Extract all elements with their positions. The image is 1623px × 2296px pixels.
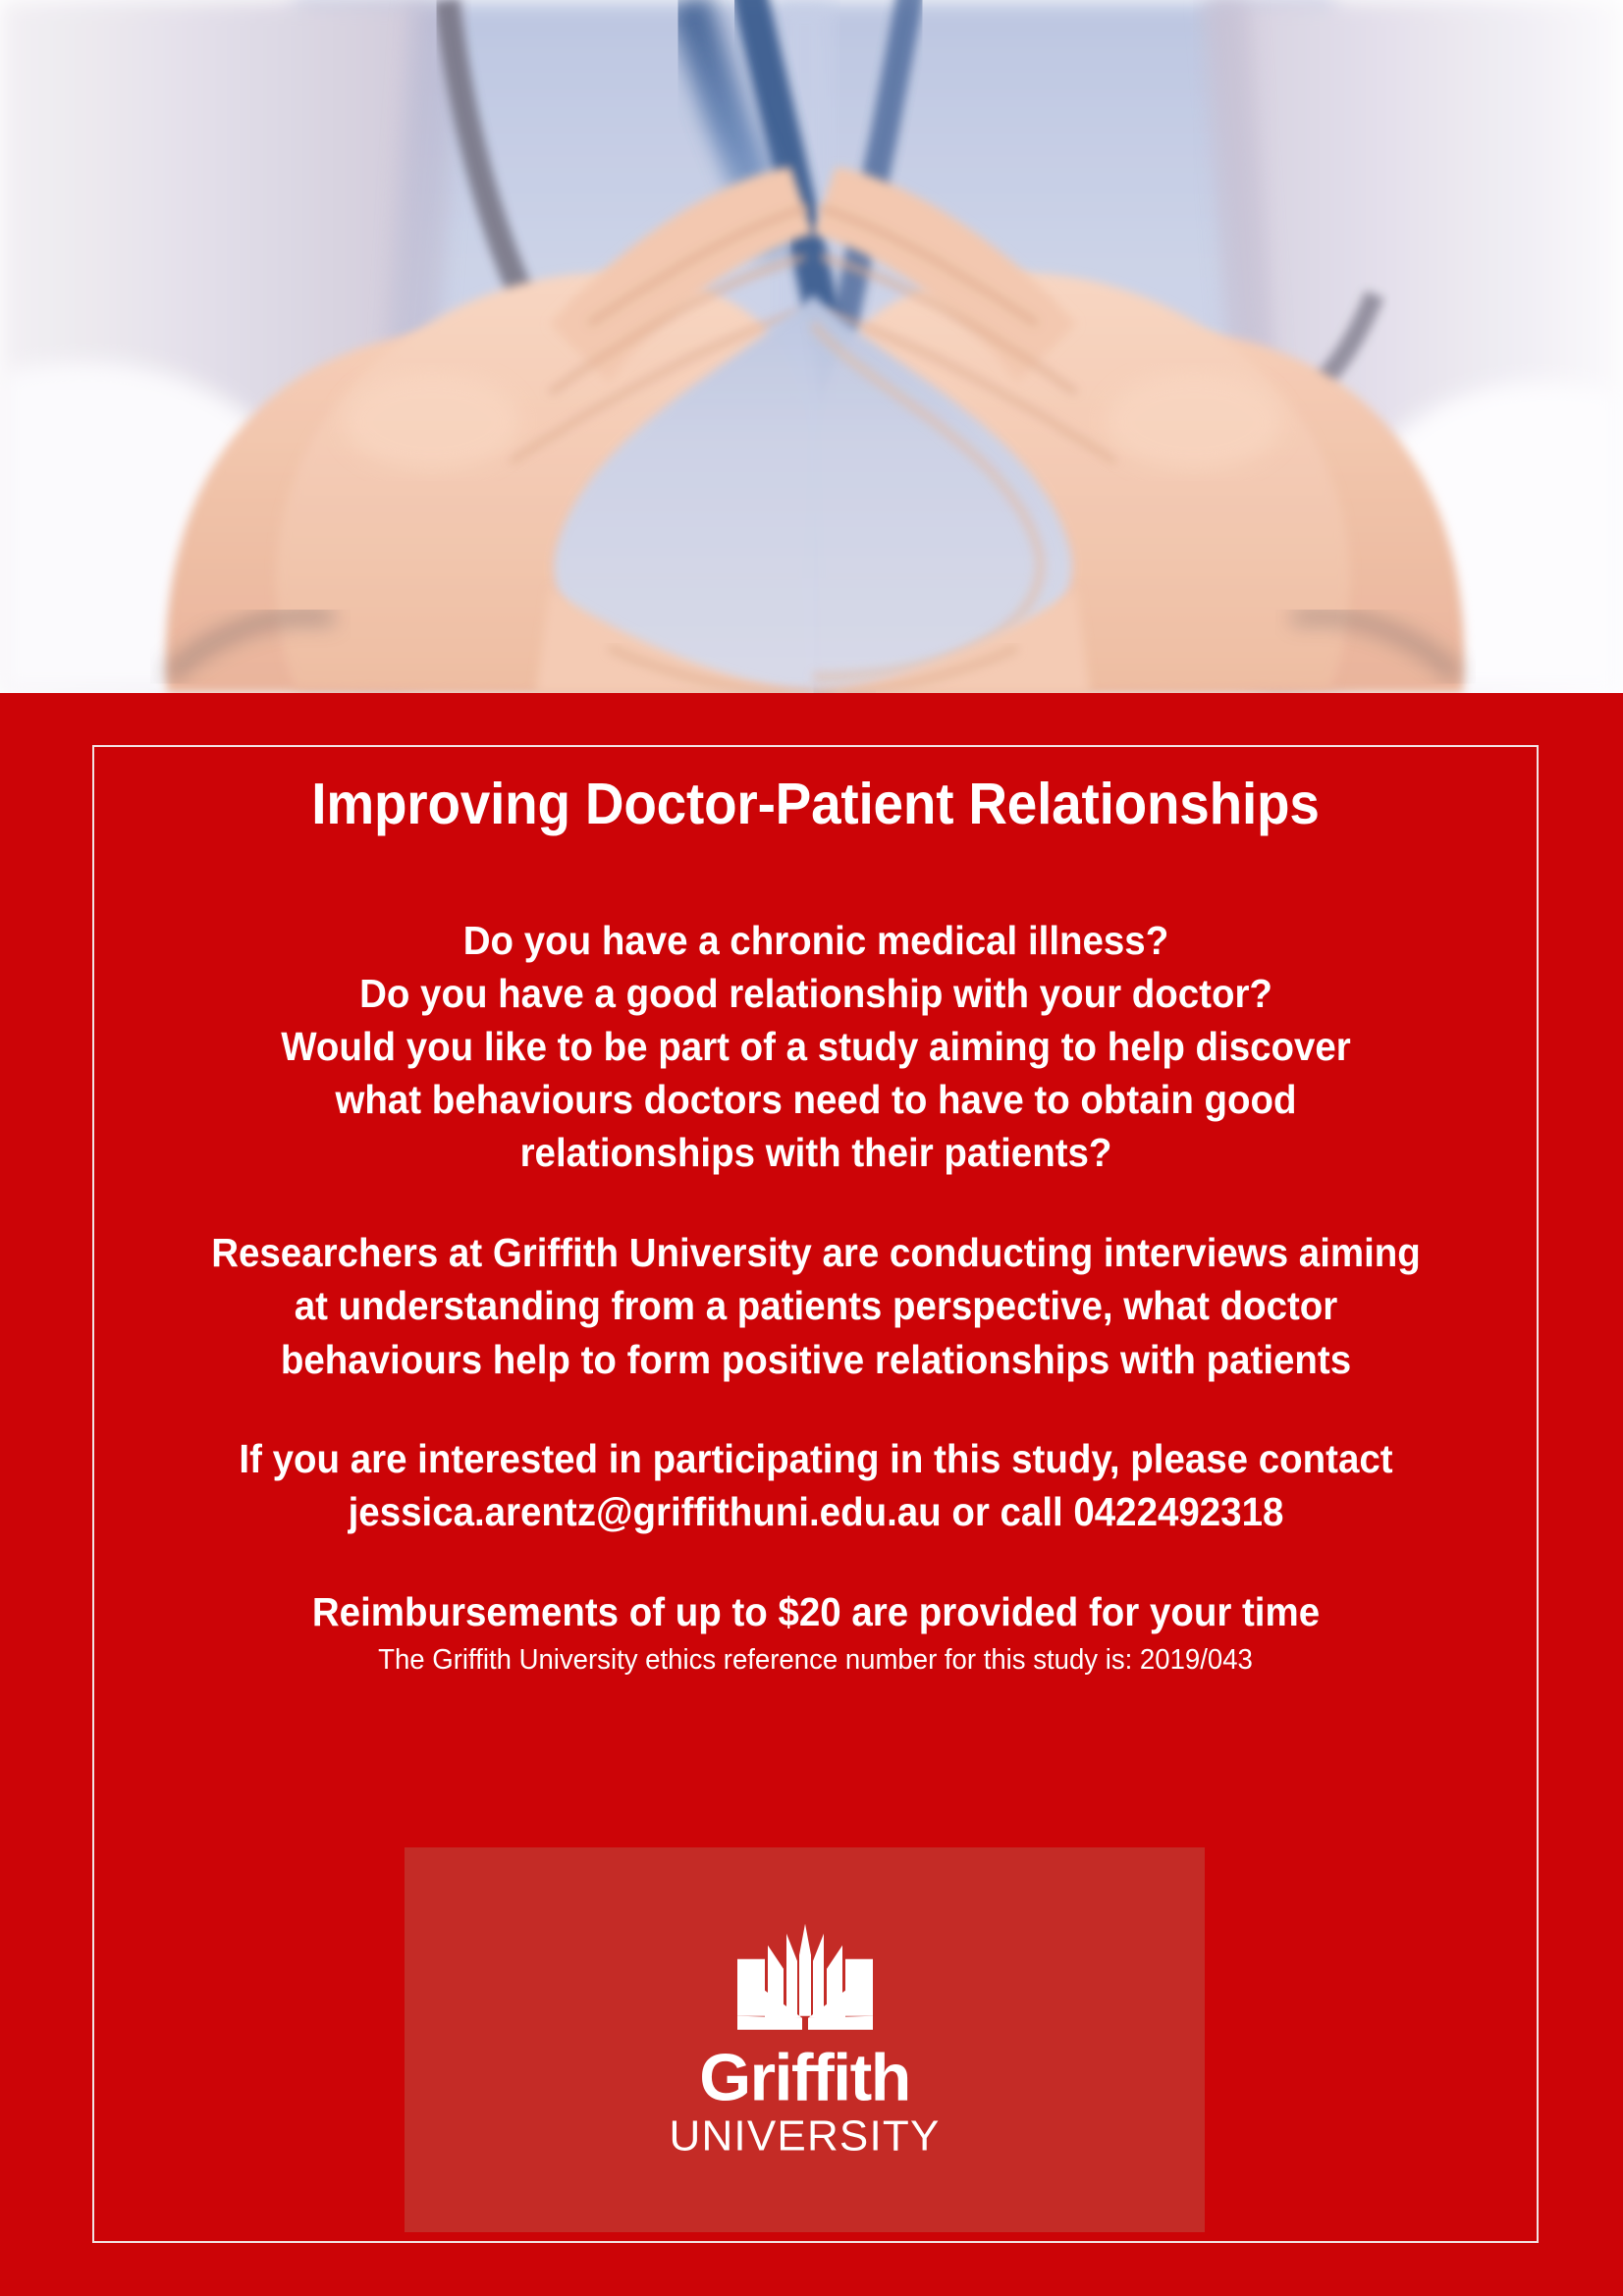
contact-block: If you are interested in participating i…	[195, 1386, 1436, 1538]
researchers-line-3: behaviours help to form positive relatio…	[195, 1333, 1436, 1386]
red-content-panel: Improving Doctor-Patient Relationships D…	[0, 693, 1623, 2296]
hero-photo	[0, 0, 1623, 693]
inner-border-frame: Improving Doctor-Patient Relationships D…	[92, 745, 1539, 2243]
researchers-block: Researchers at Griffith University are c…	[195, 1179, 1436, 1385]
contact-line-2[interactable]: jessica.arentz@griffithuni.edu.au or cal…	[195, 1485, 1436, 1538]
question-line-3: Would you like to be part of a study aim…	[195, 1020, 1436, 1073]
question-line-2: Do you have a good relationship with you…	[195, 967, 1436, 1020]
questions-block: Do you have a chronic medical illness? D…	[195, 836, 1436, 1179]
question-line-4: what behaviours doctors need to have to …	[195, 1073, 1436, 1126]
reimbursement-block: Reimbursements of up to $20 are provided…	[195, 1538, 1436, 1638]
question-line-1: Do you have a chronic medical illness?	[195, 914, 1436, 967]
contact-line-1: If you are interested in participating i…	[195, 1432, 1436, 1485]
poster-content: Improving Doctor-Patient Relationships D…	[94, 747, 1537, 1678]
question-line-5: relationships with their patients?	[195, 1126, 1436, 1179]
logo-subtitle: UNIVERSITY	[658, 2110, 952, 2158]
hands-heart-photo	[0, 0, 1623, 693]
open-book-flame-icon	[716, 1922, 894, 2042]
logo-wordmark: Griffith	[658, 2046, 952, 2111]
logo-placeholder-block: Griffith UNIVERSITY	[405, 1847, 1205, 2232]
poster-root: Improving Doctor-Patient Relationships D…	[0, 0, 1623, 2296]
griffith-logo: Griffith UNIVERSITY	[658, 1922, 952, 2159]
reimbursement-line: Reimbursements of up to $20 are provided…	[195, 1585, 1436, 1638]
researchers-line-2: at understanding from a patients perspec…	[195, 1279, 1436, 1332]
researchers-line-1: Researchers at Griffith University are c…	[195, 1226, 1436, 1279]
ethics-reference-line: The Griffith University ethics reference…	[131, 1638, 1501, 1678]
page-title: Improving Doctor-Patient Relationships	[144, 747, 1486, 836]
